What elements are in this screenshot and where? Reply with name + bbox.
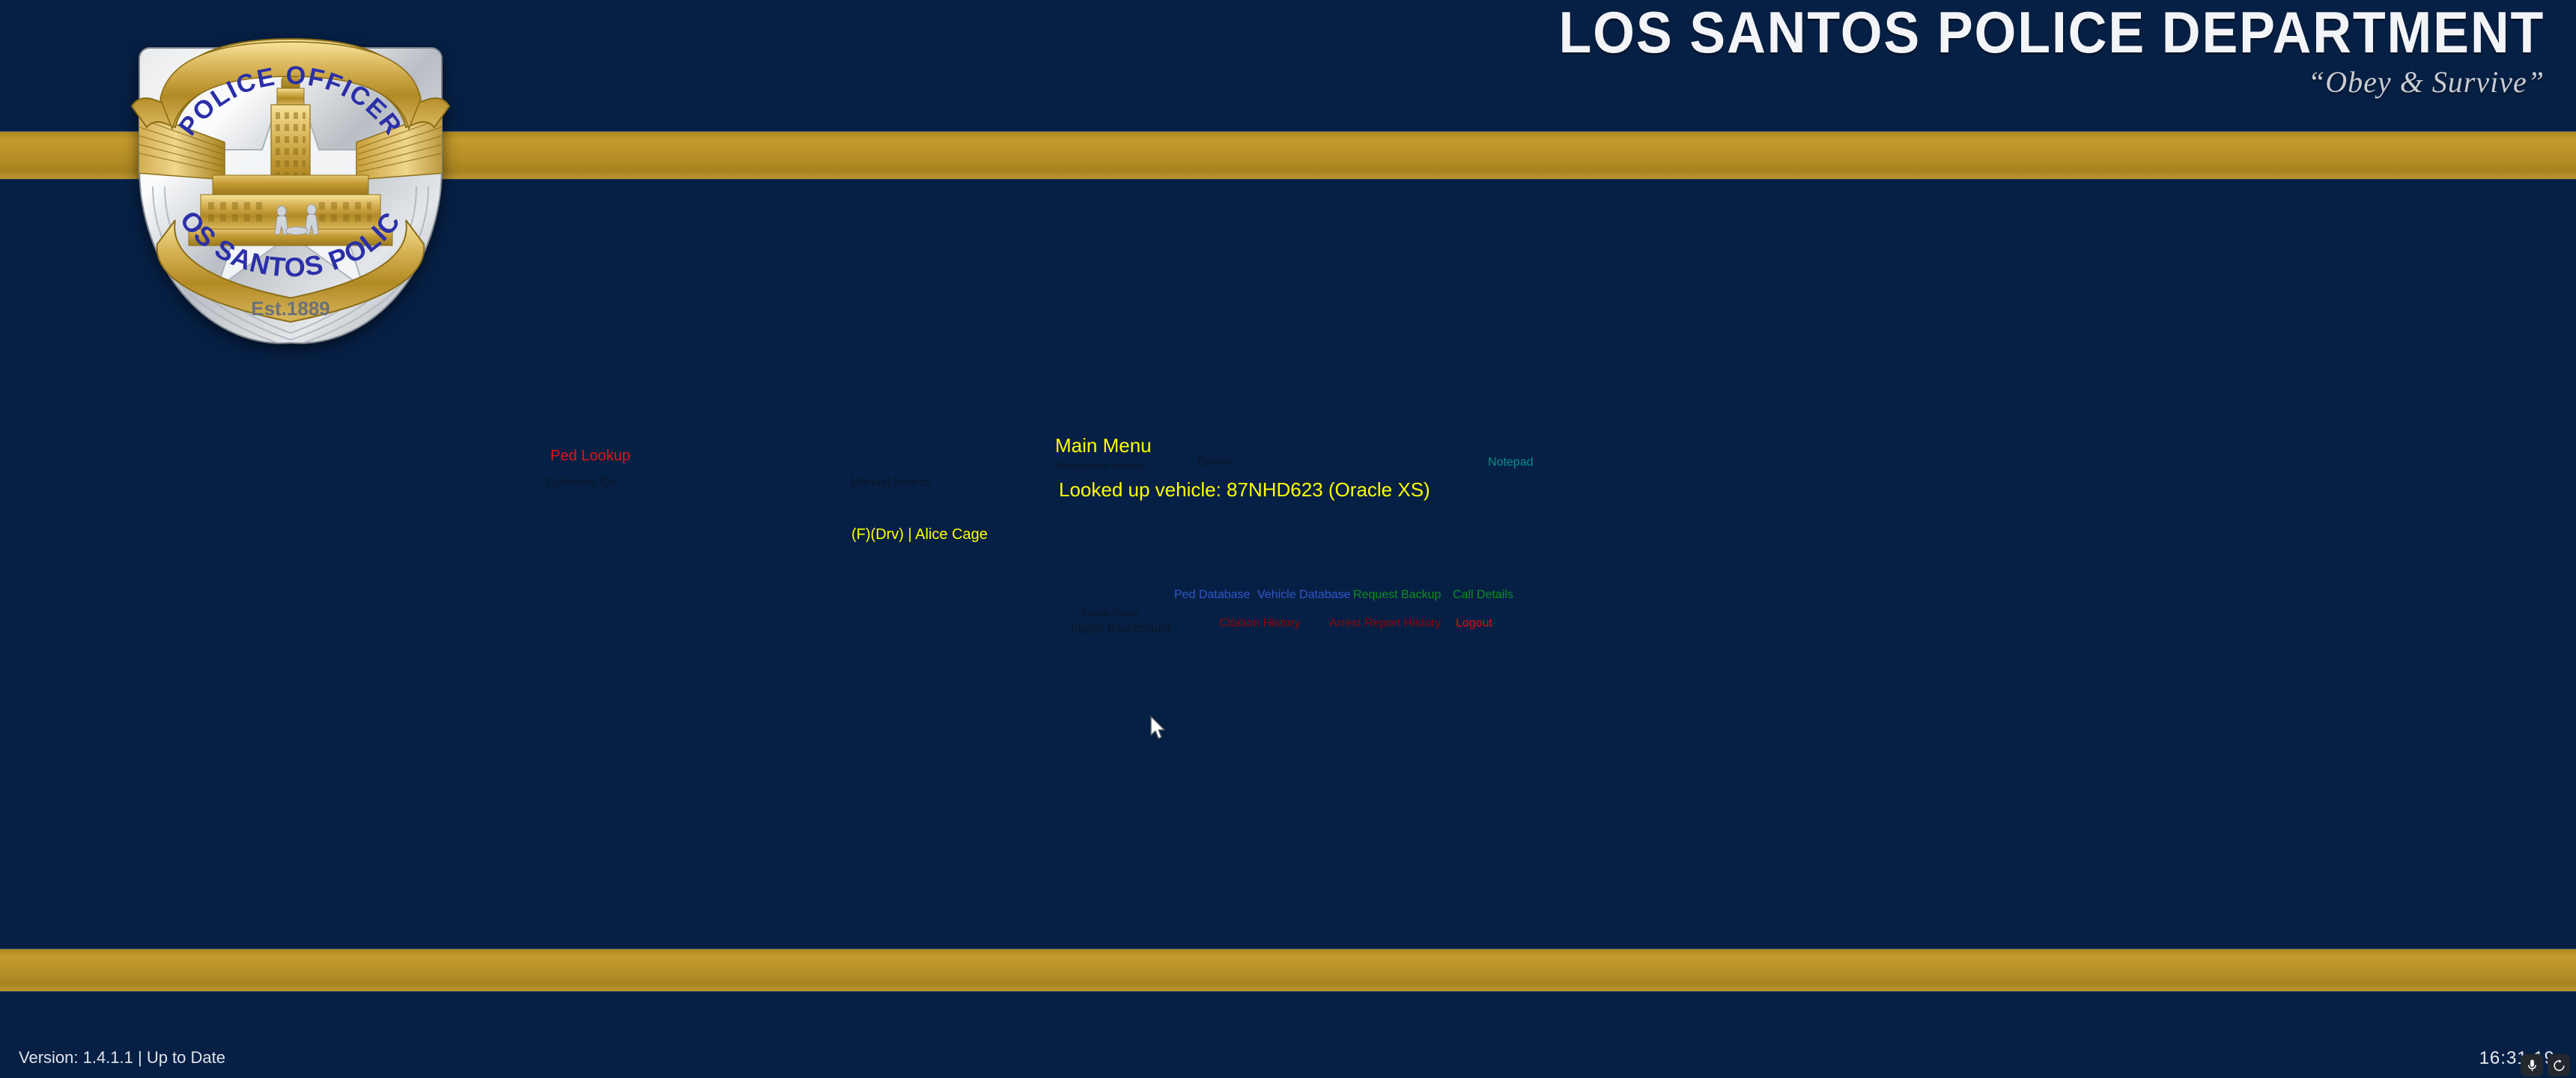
ped-database-button[interactable]: Ped Database (1174, 589, 1250, 601)
recent-actions-label: Most recent actions: (1057, 460, 1144, 470)
footer-bar (0, 992, 2576, 1078)
version-status-text: Version: 1.4.1.1 | Up to Date (19, 1048, 225, 1068)
notepad-button[interactable]: Notepad (1488, 457, 1534, 469)
extras-button[interactable]: Extras (1197, 456, 1231, 468)
vehicle-database-button[interactable]: Vehicle Database (1257, 589, 1351, 601)
lspd-mdt-screen: LOS SANTOS POLICE DEPARTMENT “Obey & Sur… (0, 0, 2576, 1078)
main-menu-title: Main Menu (1055, 436, 1152, 455)
arrest-report-history-button[interactable]: Arrest Report History (1329, 618, 1441, 630)
collected-ids-button[interactable]: Collected IDs (546, 477, 617, 489)
mdt-content-layer: Ped Lookup Collected IDs Manual Search (… (0, 0, 2576, 1078)
ped-lookup-title: Ped Lookup (550, 448, 631, 463)
logout-button[interactable]: Logout (1456, 618, 1492, 630)
voice-assistant-icon[interactable] (2548, 1054, 2570, 1077)
mouse-cursor (1149, 716, 1169, 741)
toggle-pause-button[interactable]: Toggle Pause (1081, 608, 1140, 618)
call-details-button[interactable]: Call Details (1453, 589, 1513, 601)
selected-ped-entry[interactable]: (F)(Drv) | Alice Cage (851, 527, 988, 542)
toggle-background-button[interactable]: Toggle Background (1069, 623, 1171, 635)
citation-history-button[interactable]: Citation History (1219, 618, 1300, 630)
recent-action-entry: Looked up vehicle: 87NHD623 (Oracle XS) (1059, 480, 1430, 499)
request-backup-button[interactable]: Request Backup (1353, 589, 1441, 601)
system-tray (2521, 1054, 2570, 1077)
manual-search-button[interactable]: Manual Search (851, 477, 932, 489)
microphone-icon[interactable] (2521, 1054, 2543, 1077)
